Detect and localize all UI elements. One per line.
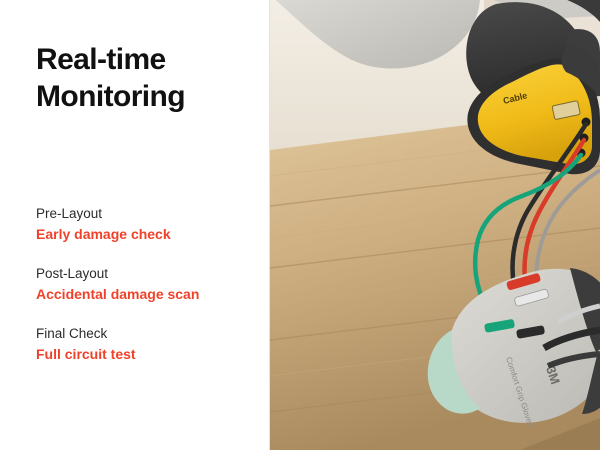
feature-title: Final Check [36, 325, 246, 343]
list-item: Pre-Layout Early damage check [36, 205, 246, 244]
feature-title: Pre-Layout [36, 205, 246, 223]
list-item: Final Check Full circuit test [36, 325, 246, 364]
page-title: Real-time Monitoring [36, 42, 240, 115]
feature-list: Pre-Layout Early damage check Post-Layou… [36, 205, 246, 385]
poster-root: Real-time Monitoring Pre-Layout Early da… [0, 0, 600, 450]
left-text-panel: Real-time Monitoring Pre-Layout Early da… [0, 0, 270, 450]
product-photo: Cable [270, 0, 600, 450]
feature-title: Post-Layout [36, 265, 246, 283]
feature-subtitle: Early damage check [36, 225, 246, 244]
list-item: Post-Layout Accidental damage scan [36, 265, 246, 304]
feature-subtitle: Full circuit test [36, 345, 246, 364]
feature-subtitle: Accidental damage scan [36, 285, 246, 304]
